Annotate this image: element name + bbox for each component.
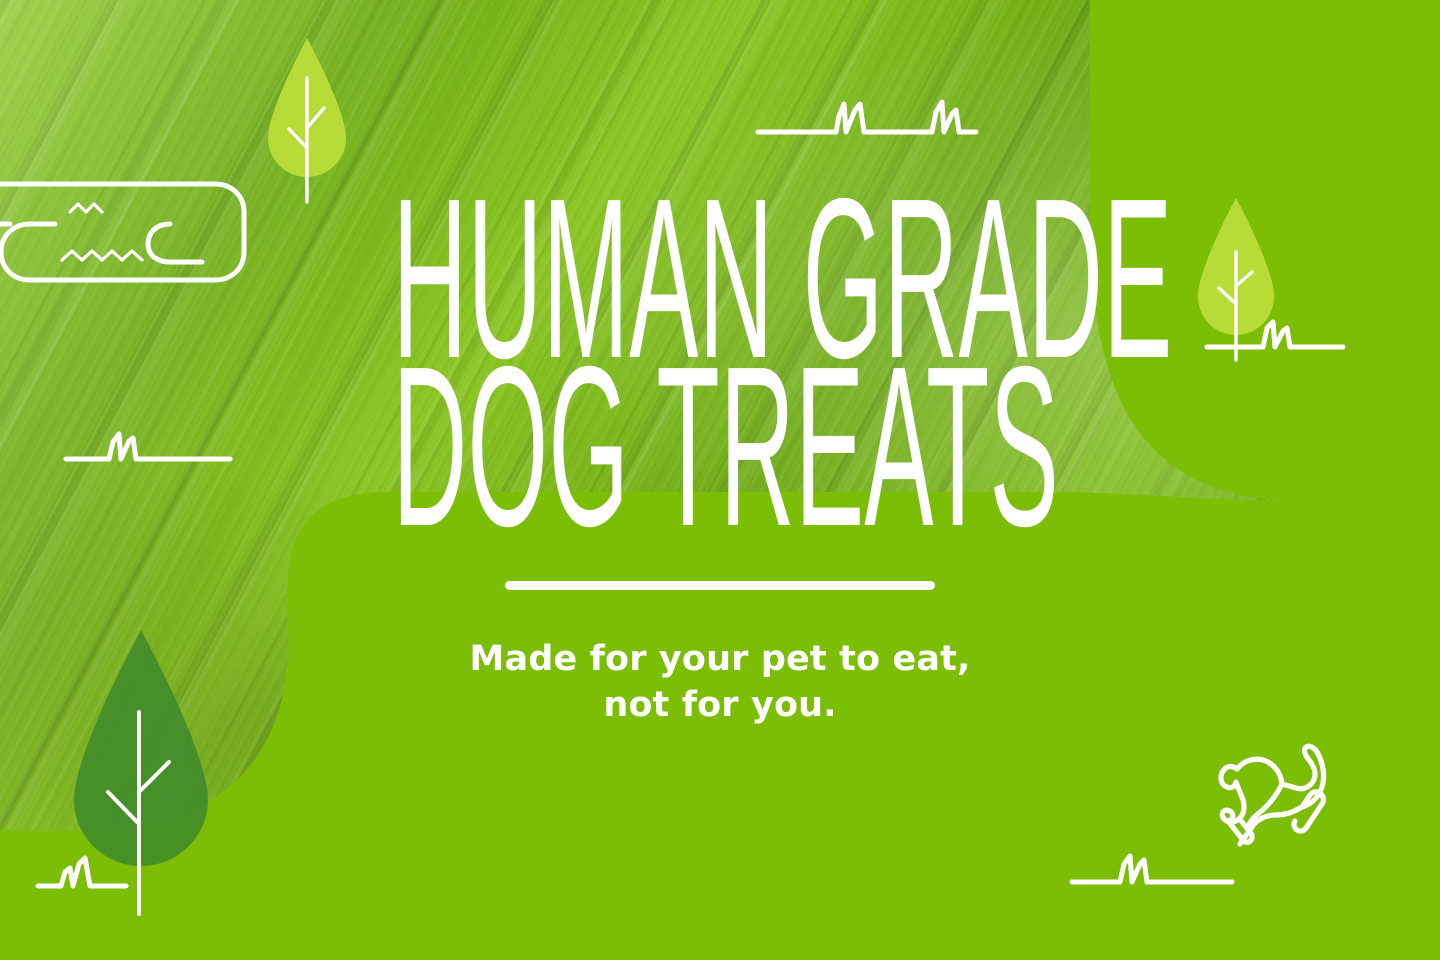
grass-line-top-center-icon <box>756 100 978 142</box>
page-title: HUMAN GRADE DOG TREATS <box>0 188 1440 539</box>
divider-container <box>0 581 1440 590</box>
subtitle-line-2: not for you. <box>0 682 1440 728</box>
subtitle-line-1: Made for your pet to eat, <box>0 636 1440 682</box>
banner-subtitle: Made for your pet to eat, not for you. <box>0 636 1440 728</box>
title-divider <box>505 581 935 590</box>
promo-banner: HUMAN GRADE DOG TREATS Made for your pet… <box>0 0 1440 960</box>
headline-line-2: DOG TREATS <box>392 356 1047 538</box>
banner-content: HUMAN GRADE DOG TREATS Made for your pet… <box>0 188 1440 728</box>
grass-line-bottom-left-icon <box>36 856 142 894</box>
dog-running-icon <box>1196 744 1368 874</box>
